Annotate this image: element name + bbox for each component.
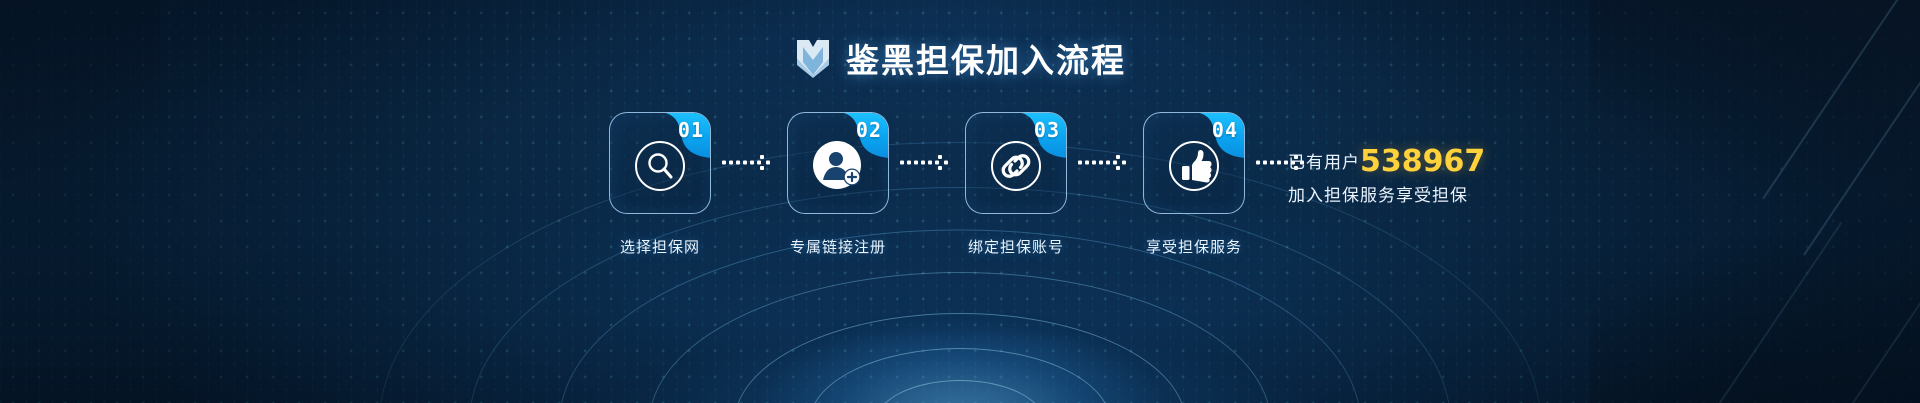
step-ribbon-1: 01 <box>649 112 711 158</box>
step-item-4[interactable]: 04 享受担保服务 <box>1138 112 1250 257</box>
step-number-4: 04 <box>1212 118 1238 142</box>
step-number-3: 03 <box>1034 118 1060 142</box>
steps-flow: 01 选择担保网 <box>0 112 1920 257</box>
banner-title-row: 鉴黑担保加入流程 <box>0 34 1920 82</box>
promo-banner: 鉴黑担保加入流程 01 选择担保网 <box>0 0 1920 403</box>
step-card-4[interactable]: 04 <box>1143 112 1245 214</box>
page-title: 鉴黑担保加入流程 <box>846 34 1126 82</box>
dotted-arrow-icon <box>898 112 956 212</box>
user-count-block: 已有用户538967 加入担保服务享受担保 <box>1288 142 1608 207</box>
step-caption-3: 绑定担保账号 <box>968 236 1064 257</box>
step-card-2[interactable]: 02 <box>787 112 889 214</box>
step-item-1[interactable]: 01 选择担保网 <box>604 112 716 257</box>
dotted-arrow-icon <box>1076 112 1134 212</box>
user-count-label: 已有用户 <box>1288 153 1360 172</box>
step-caption-4: 享受担保服务 <box>1146 236 1242 257</box>
step-caption-1: 选择担保网 <box>620 236 700 257</box>
step-ribbon-3: 03 <box>1005 112 1067 158</box>
step-card-3[interactable]: 03 <box>965 112 1067 214</box>
user-count-line: 已有用户538967 <box>1288 142 1608 183</box>
step-item-2[interactable]: 02 <box>782 112 894 257</box>
step-item-3[interactable]: 03 绑定担保账号 <box>960 112 1072 257</box>
step-number-2: 02 <box>856 118 882 142</box>
step-number-1: 01 <box>678 118 704 142</box>
step-ribbon-4: 04 <box>1183 112 1245 158</box>
user-count-subtitle: 加入担保服务享受担保 <box>1288 185 1608 208</box>
shield-m-logo-icon <box>794 38 832 78</box>
dotted-arrow-icon <box>720 112 778 212</box>
step-card-1[interactable]: 01 <box>609 112 711 214</box>
step-ribbon-2: 02 <box>827 112 889 158</box>
step-caption-2: 专属链接注册 <box>790 236 886 257</box>
user-count-value: 538967 <box>1360 144 1485 179</box>
